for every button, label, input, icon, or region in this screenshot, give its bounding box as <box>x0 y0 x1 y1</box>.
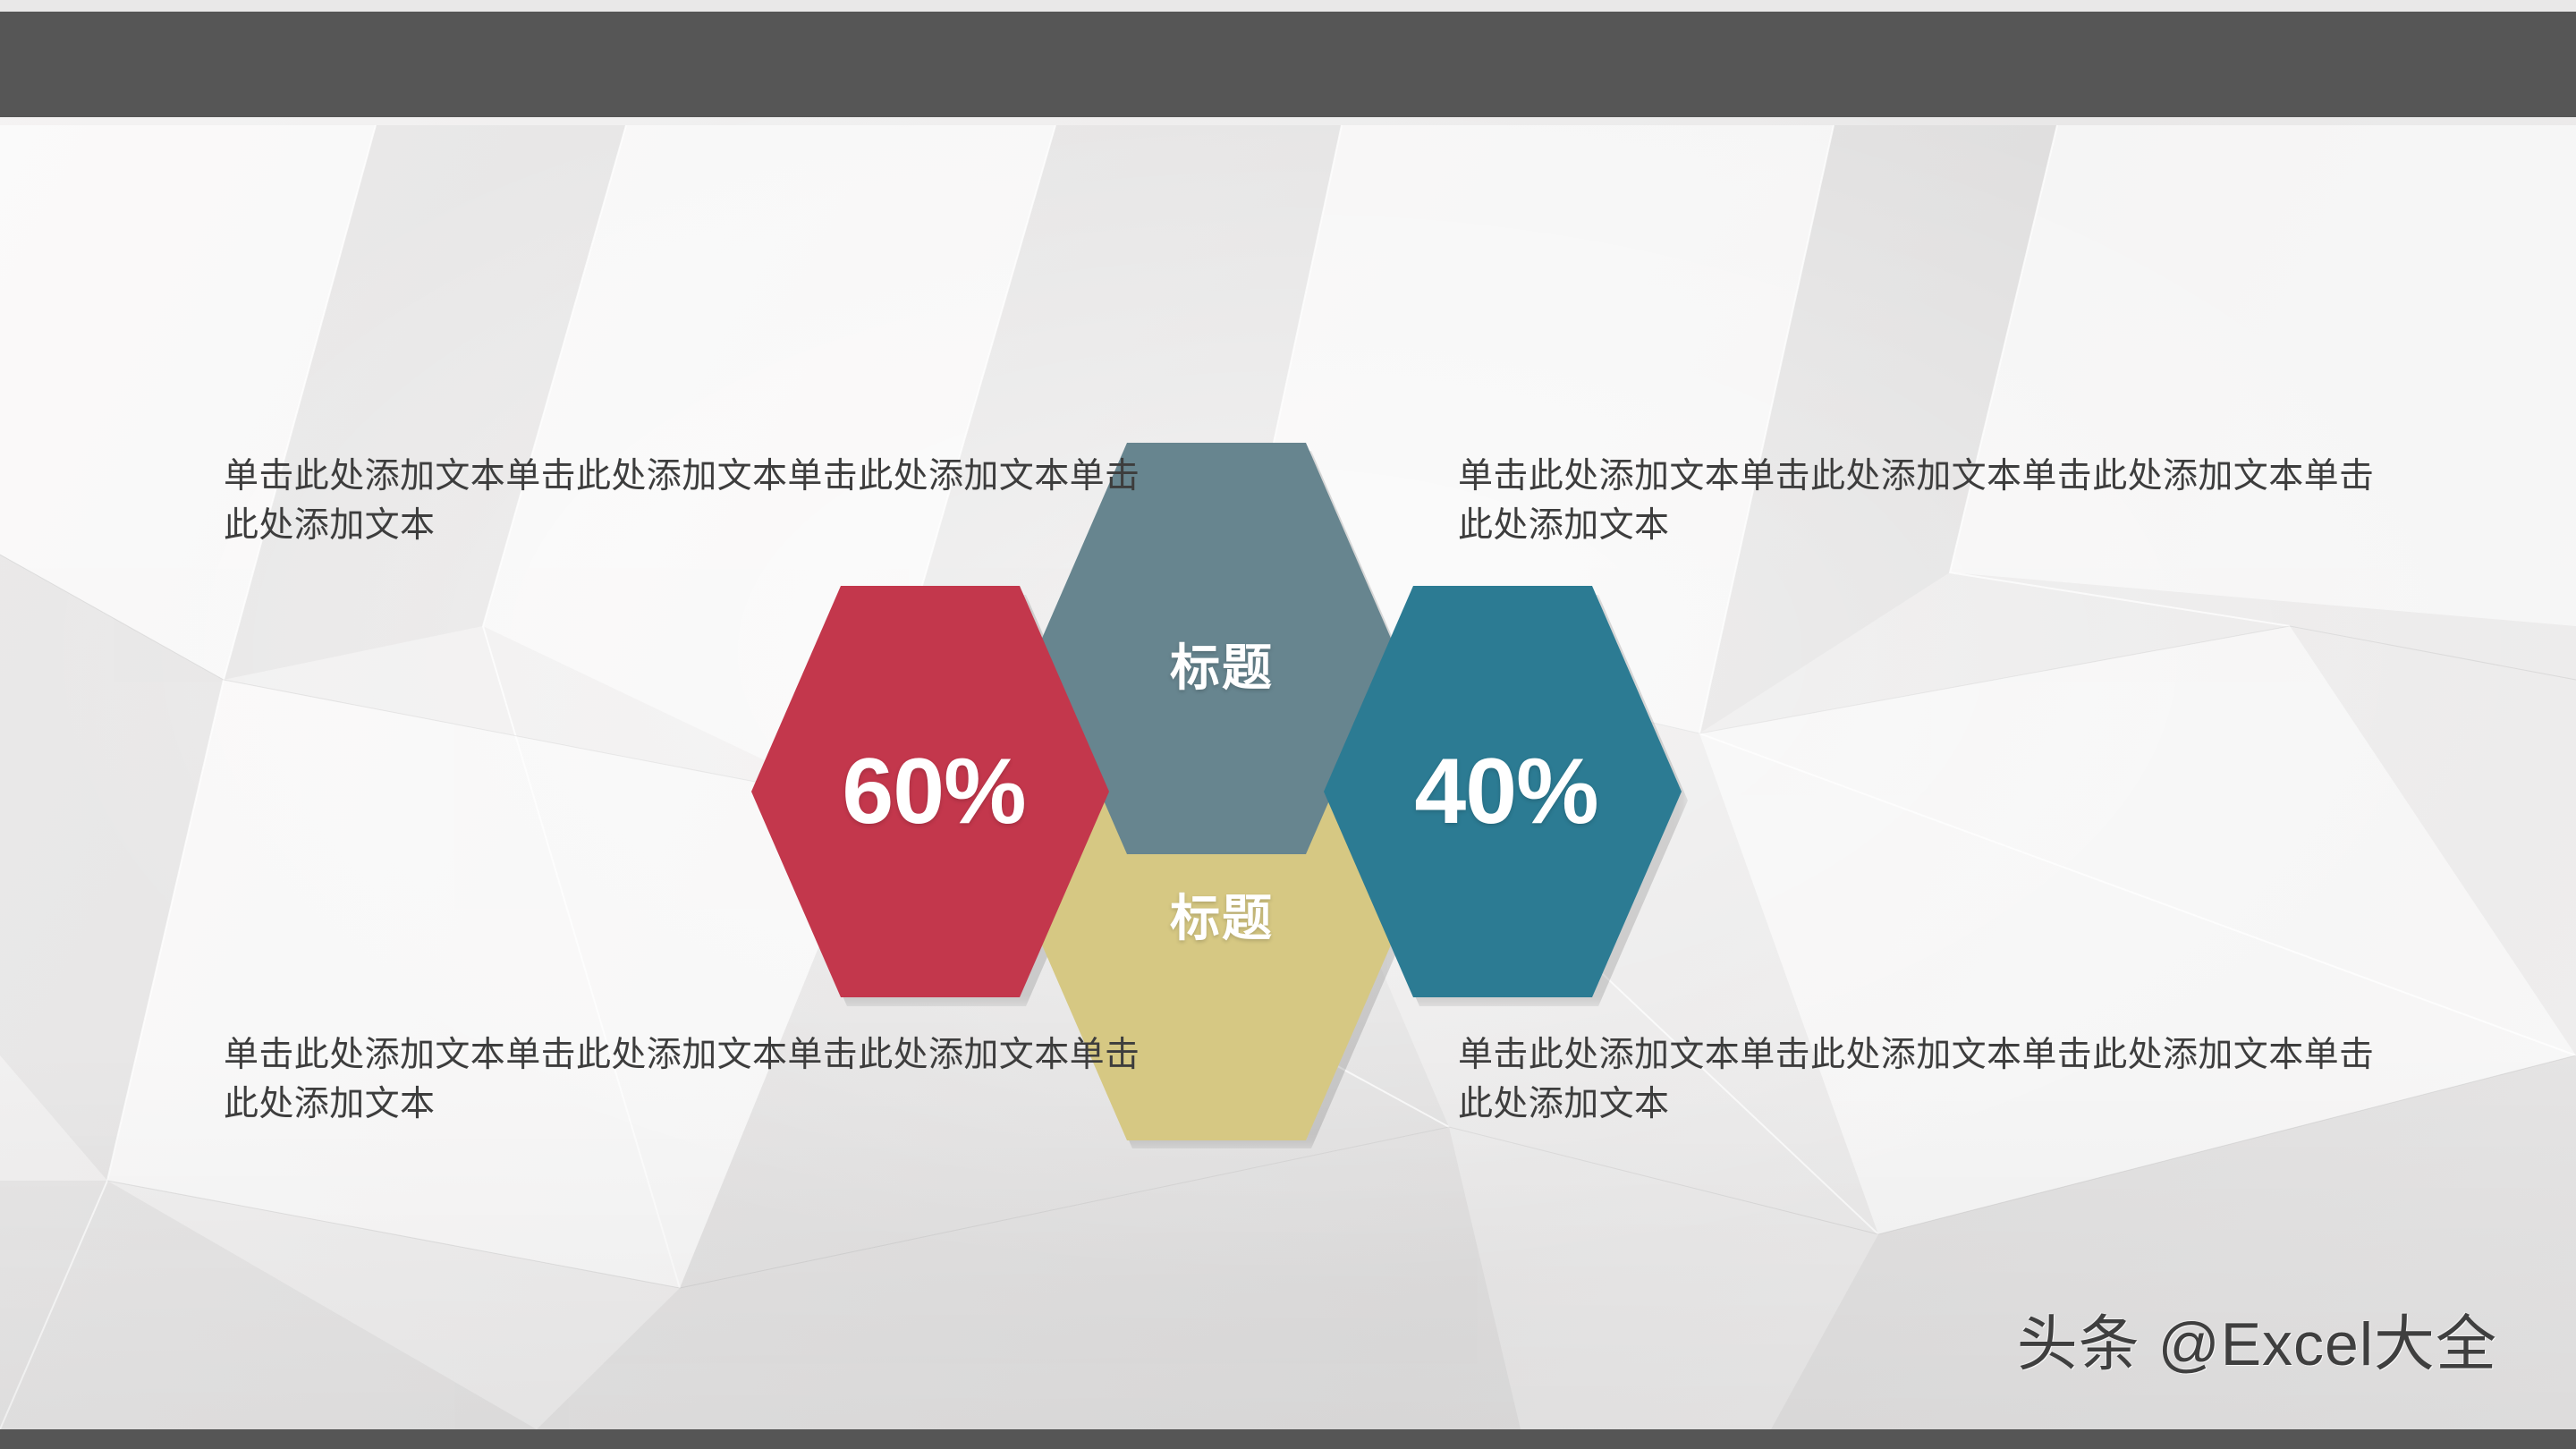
top-margin-strip <box>0 0 2576 12</box>
hexagon-top-label: 标题 <box>1170 643 1274 693</box>
copy-block-top-right: 单击此处添加文本单击此处添加文本单击此处添加文本单击此处添加文本 <box>1458 452 2397 551</box>
watermark-text: 头条 @Excel大全 <box>2017 1294 2497 1383</box>
bottom-band <box>0 1429 2576 1449</box>
hexagon-right-percentage: 40% <box>1414 745 1597 838</box>
top-band <box>0 12 2576 117</box>
hexagon-bottom-label: 标题 <box>1170 894 1274 944</box>
copy-block-bottom-left: 单击此处添加文本单击此处添加文本单击此处添加文本单击此处添加文本 <box>224 1030 1163 1130</box>
copy-block-top-left: 单击此处添加文本单击此处添加文本单击此处添加文本单击此处添加文本 <box>224 452 1163 551</box>
presentation-slide: 单击此处添加文本单击此处添加文本单击此处添加文本单击此处添加文本 单击此处添加文… <box>0 0 2576 1449</box>
hexagon-left-percentage: 60% <box>842 745 1025 838</box>
copy-block-bottom-right: 单击此处添加文本单击此处添加文本单击此处添加文本单击此处添加文本 <box>1458 1030 2397 1130</box>
